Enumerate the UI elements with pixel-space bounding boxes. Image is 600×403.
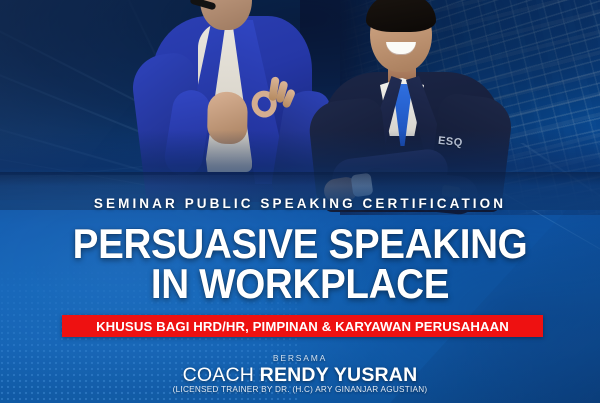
poster-text-content: SEMINAR PUBLIC SPEAKING CERTIFICATION PE… — [0, 0, 600, 403]
seminar-poster: ESQ SEMINAR PUBLIC SPEAKING CERTIFICATIO… — [0, 0, 600, 403]
with-label: BERSAMA — [0, 353, 600, 363]
audience-banner: KHUSUS BAGI HRD/HR, PIMPINAN & KARYAWAN … — [62, 315, 543, 337]
headline-line-1: PERSUASIVE SPEAKING — [24, 224, 576, 264]
speaker-credential: (LICENSED TRAINER BY DR. (H.C) ARY GINAN… — [0, 385, 600, 394]
poster-headline: PERSUASIVE SPEAKING IN WORKPLACE — [24, 224, 576, 304]
speaker-line: COACH RENDY YUSRAN — [0, 364, 600, 387]
poster-eyebrow: SEMINAR PUBLIC SPEAKING CERTIFICATION — [0, 196, 600, 211]
speaker-name: RENDY YUSRAN — [260, 364, 418, 386]
audience-banner-label: KHUSUS BAGI HRD/HR, PIMPINAN & KARYAWAN … — [96, 319, 509, 334]
headline-line-2: IN WORKPLACE — [24, 264, 576, 304]
speaker-prefix: COACH — [183, 364, 260, 386]
